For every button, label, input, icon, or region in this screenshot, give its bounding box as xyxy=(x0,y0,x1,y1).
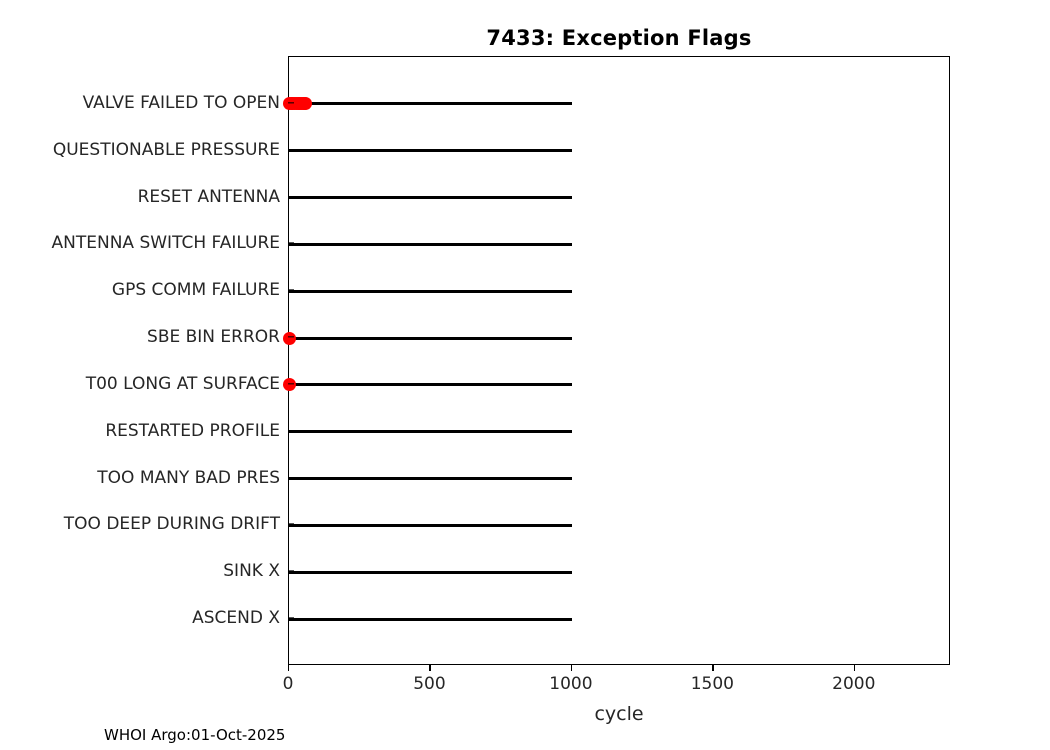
y-tick-mark xyxy=(288,336,294,337)
page-title: 7433: Exception Flags xyxy=(288,26,950,50)
y-tick-label: QUESTIONABLE PRESSURE xyxy=(53,140,280,160)
y-tick-mark xyxy=(288,102,294,103)
series-baseline xyxy=(289,102,572,105)
footer-credit: WHOI Argo:01-Oct-2025 xyxy=(104,726,285,744)
x-tick-label: 2000 xyxy=(832,674,875,694)
x-tick-mark xyxy=(288,665,289,671)
series-baseline xyxy=(289,477,572,480)
y-tick-label: TOO MANY BAD PRES xyxy=(97,468,280,488)
y-tick-mark xyxy=(288,617,294,618)
x-tick-label: 0 xyxy=(283,674,294,694)
x-tick-mark xyxy=(854,665,855,671)
series-baseline xyxy=(289,196,572,199)
y-tick-label: GPS COMM FAILURE xyxy=(112,280,280,300)
y-tick-mark xyxy=(288,243,294,244)
plot-area xyxy=(288,56,950,665)
x-tick-label: 1000 xyxy=(549,674,592,694)
series-baseline xyxy=(289,524,572,527)
series-baseline xyxy=(289,618,572,621)
series-baseline xyxy=(289,571,572,574)
y-tick-label: SINK X xyxy=(223,561,280,581)
data-point-marker xyxy=(299,97,312,110)
x-tick-label: 500 xyxy=(413,674,445,694)
y-tick-mark xyxy=(288,290,294,291)
y-tick-label: SBE BIN ERROR xyxy=(147,327,280,347)
y-tick-label: T00 LONG AT SURFACE xyxy=(86,374,280,394)
y-tick-mark xyxy=(288,383,294,384)
y-tick-mark xyxy=(288,149,294,150)
series-baseline xyxy=(289,337,572,340)
y-tick-mark xyxy=(288,524,294,525)
series-baseline xyxy=(289,290,572,293)
data-point-marker xyxy=(283,378,296,391)
x-tick-mark xyxy=(429,665,430,671)
y-tick-mark xyxy=(288,571,294,572)
series-baseline xyxy=(289,149,572,152)
series-baseline xyxy=(289,243,572,246)
y-tick-label: ANTENNA SWITCH FAILURE xyxy=(52,233,280,253)
series-baseline xyxy=(289,383,572,386)
x-tick-label: 1500 xyxy=(691,674,734,694)
series-baseline xyxy=(289,430,572,433)
y-tick-mark xyxy=(288,430,294,431)
y-tick-label: ASCEND X xyxy=(192,608,280,628)
y-tick-label: TOO DEEP DURING DRIFT xyxy=(64,514,280,534)
x-tick-mark xyxy=(571,665,572,671)
data-point-marker xyxy=(283,332,296,345)
y-tick-mark xyxy=(288,477,294,478)
y-tick-mark xyxy=(288,196,294,197)
chart-figure: 7433: Exception Flags VALVE FAILED TO OP… xyxy=(0,0,1050,750)
x-axis-label: cycle xyxy=(288,703,950,725)
x-tick-mark xyxy=(712,665,713,671)
y-tick-label: VALVE FAILED TO OPEN xyxy=(83,93,280,113)
y-tick-label: RESTARTED PROFILE xyxy=(105,421,280,441)
y-tick-label: RESET ANTENNA xyxy=(138,187,280,207)
